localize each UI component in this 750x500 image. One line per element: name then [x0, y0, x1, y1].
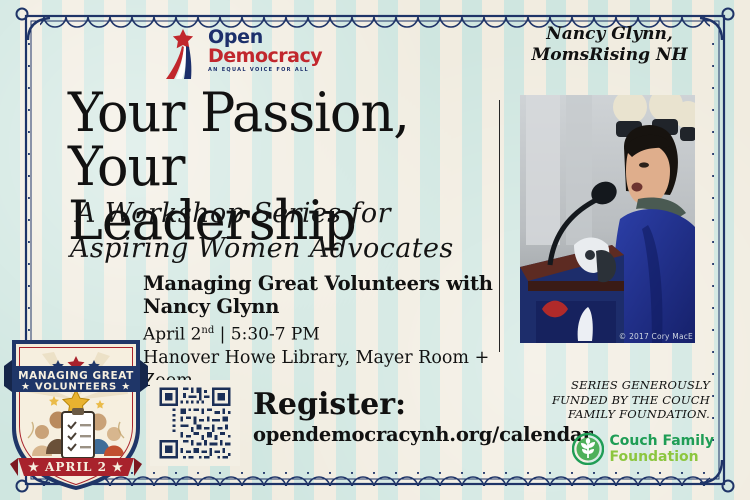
session-title-line-1: Managing Great Volunteers with [143, 272, 543, 295]
badge-banner-line-1: MANAGING GREAT [18, 370, 134, 382]
couch-foundation-name: Couch Family Foundation [609, 432, 714, 465]
couch-family-foundation-logo: Couch Family Foundation [572, 432, 714, 465]
event-flyer: Open Democracy AN EQUAL VOICE FOR ALL Yo… [0, 0, 750, 500]
photo-credit: © 2017 Cory MacE [619, 332, 693, 341]
sponsor-note: SERIES GENEROUSLY FUNDED BY THE COUCH FA… [540, 378, 710, 422]
event-date: April 2 [143, 325, 201, 345]
subtitle-line-2: Aspiring Women Advocates [70, 231, 506, 266]
sponsor-note-line-1: SERIES GENEROUSLY [571, 378, 710, 392]
date-ordinal-suffix: nd [201, 325, 214, 336]
badge-ribbon-date: ★ APRIL 2 ★ [28, 460, 124, 474]
event-details: Managing Great Volunteers with Nancy Gly… [143, 272, 543, 393]
logo-tagline: AN EQUAL VOICE FOR ALL [208, 67, 322, 73]
subtitle: A Workshop Series for Aspiring Women Adv… [76, 196, 506, 266]
open-democracy-logo: Open Democracy AN EQUAL VOICE FOR ALL [160, 26, 310, 84]
event-time: 5:30-7 PM [231, 325, 320, 345]
registration-qr-code[interactable] [150, 380, 240, 466]
couch-foundation-line-2: Foundation [609, 450, 714, 465]
logo-word-democracy: Democracy [208, 46, 322, 66]
badge-banner-line-2: ★ VOLUNTEERS ★ [21, 382, 131, 393]
datetime-separator: | [214, 325, 231, 345]
managing-great-volunteers-badge: MANAGING GREAT ★ VOLUNTEERS ★ ★ APRIL 2 … [2, 330, 150, 490]
speaker-photo: © 2017 Cory MacE [520, 95, 695, 343]
couch-foundation-line-1: Couch Family [609, 433, 714, 449]
sponsor-note-line-2: FUNDED BY THE COUCH [552, 393, 710, 407]
sponsor-note-line-3: FAMILY FOUNDATION. [568, 407, 710, 421]
plant-circle-icon [572, 433, 604, 465]
flag-star-icon [160, 26, 206, 82]
speaker-name: Nancy Glynn, [546, 24, 673, 44]
speaker-caption: Nancy Glynn, MomsRising NH [512, 24, 707, 66]
session-title-line-2: Nancy Glynn [143, 295, 543, 318]
logo-word-open: Open [208, 28, 322, 46]
vertical-divider [499, 100, 500, 352]
register-url[interactable]: opendemocracynh.org/calendar [253, 422, 593, 448]
subtitle-line-1: A Workshop Series for [76, 198, 391, 229]
event-datetime: April 2nd | 5:30-7 PM [143, 320, 543, 346]
speaker-affiliation: MomsRising NH [531, 45, 687, 65]
